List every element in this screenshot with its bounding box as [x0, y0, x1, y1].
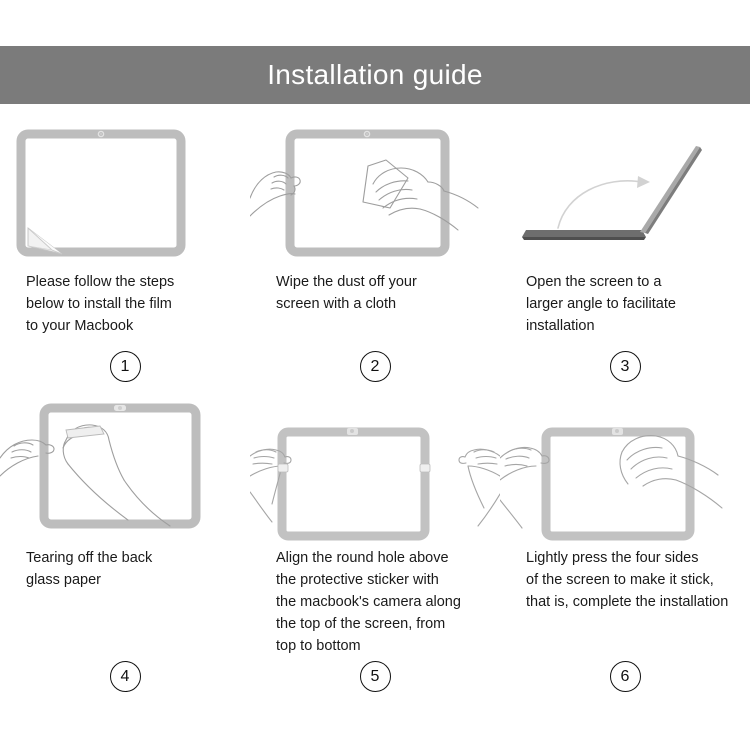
step-caption: Align the round hole above the protectiv… — [250, 547, 469, 657]
step-caption: Lightly press the four sides of the scre… — [500, 547, 736, 657]
step-card-1: Please follow the steps below to install… — [0, 120, 250, 382]
step-card-2: Wipe the dust off your screen with a clo… — [250, 120, 500, 382]
step-caption: Open the screen to a larger angle to fac… — [500, 271, 684, 337]
illustration-tablet-with-peeling-film-corner — [0, 120, 250, 265]
step-number-badge: 5 — [360, 661, 391, 692]
step-card-5: Align the round hole above the protectiv… — [250, 396, 500, 692]
step-badge-row: 4 — [0, 661, 250, 692]
step-number-badge: 2 — [360, 351, 391, 382]
step-badge-row: 6 — [500, 661, 750, 692]
step-card-6: Lightly press the four sides of the scre… — [500, 396, 750, 692]
step-caption: Please follow the steps below to install… — [0, 271, 182, 337]
step-number-badge: 6 — [610, 661, 641, 692]
step-badge-row: 1 — [0, 351, 250, 382]
step-number-badge: 4 — [110, 661, 141, 692]
step-number-badge: 3 — [610, 351, 641, 382]
step-number-badge: 1 — [110, 351, 141, 382]
step-row: Tearing off the back glass paper 4 — [0, 396, 750, 692]
step-caption: Wipe the dust off your screen with a clo… — [250, 271, 425, 337]
step-card-3: Open the screen to a larger angle to fac… — [500, 120, 750, 382]
step-row: Please follow the steps below to install… — [0, 120, 750, 382]
illustration-tablet-two-hands-peeling-backing — [0, 396, 250, 541]
step-badge-row: 5 — [250, 661, 500, 692]
step-caption: Tearing off the back glass paper — [0, 547, 160, 657]
steps-grid: Please follow the steps below to install… — [0, 120, 750, 692]
step-badge-row: 3 — [500, 351, 750, 382]
header-bar: Installation guide — [0, 46, 750, 104]
illustration-tablet-hand-wiping-with-cloth — [250, 120, 500, 265]
illustration-tablet-two-hands-aligning-film — [250, 396, 500, 541]
illustration-tablet-hand-pressing-screen — [500, 396, 750, 541]
step-card-4: Tearing off the back glass paper 4 — [0, 396, 250, 692]
page-title: Installation guide — [267, 61, 483, 89]
illustration-laptop-side-profile-opening-arrow — [500, 120, 750, 265]
step-badge-row: 2 — [250, 351, 500, 382]
